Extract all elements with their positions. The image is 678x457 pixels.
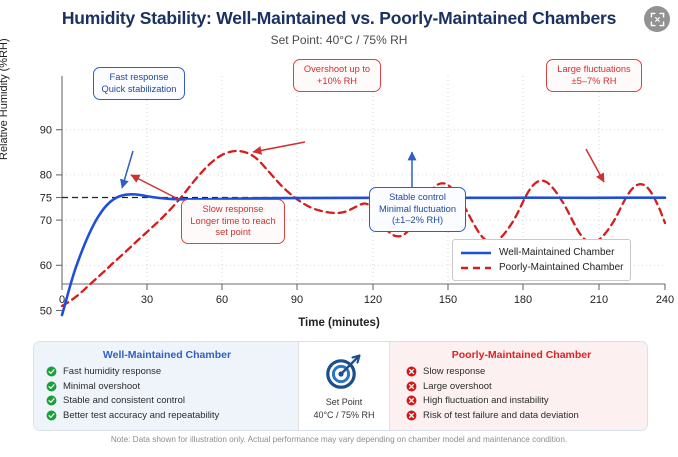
- chart-legend: Well-Maintained Chamber Poorly-Maintaine…: [452, 239, 631, 281]
- annotation-line: +10% RH: [301, 76, 373, 88]
- chart-area: Relative Humidity (%RH) Time (minutes): [0, 52, 678, 334]
- x-axis-tick-labels: 0 30 60 90 120 150 180 210 240: [59, 294, 674, 306]
- annotation-fast-response: Fast response Quick stabilization: [93, 67, 185, 100]
- panel-well-maintained: Well-Maintained Chamber Fast humidity re…: [34, 342, 298, 430]
- svg-text:80: 80: [40, 170, 52, 182]
- svg-text:60: 60: [216, 294, 228, 306]
- x-circle-icon: [406, 410, 417, 421]
- annotation-overshoot: Overshoot up to +10% RH: [293, 59, 381, 92]
- annotation-stable-control: Stable control Minimal fluctuation (±1–2…: [369, 187, 466, 232]
- page-subtitle: Set Point: 40°C / 75% RH: [0, 33, 678, 47]
- x-axis-ticks: [62, 284, 665, 290]
- target-dart-icon: [322, 351, 366, 393]
- panel-setpoint: Set Point 40°C / 75% RH: [298, 342, 390, 430]
- list-item: Large overshoot: [406, 381, 637, 392]
- svg-text:50: 50: [40, 305, 52, 317]
- chart-page: Humidity Stability: Well-Maintained vs. …: [0, 0, 678, 457]
- list-item: Stable and consistent control: [46, 395, 288, 406]
- panel-poorly-maintained: Poorly-Maintained Chamber Slow response …: [390, 342, 647, 430]
- footer-note: Note: Data shown for illustration only. …: [0, 435, 678, 444]
- list-item-label: Slow response: [423, 366, 485, 377]
- check-circle-icon: [46, 366, 57, 377]
- svg-text:60: 60: [40, 260, 52, 272]
- list-item: Fast humidity response: [46, 366, 288, 377]
- list-item-label: Risk of test failure and data deviation: [423, 410, 579, 421]
- legend-item-poorly-maintained: Poorly-Maintained Chamber: [460, 260, 623, 275]
- svg-text:180: 180: [514, 294, 532, 306]
- annotation-large-fluctuations: Large fluctuations ±5–7% RH: [546, 59, 642, 92]
- svg-text:90: 90: [40, 125, 52, 137]
- svg-text:240: 240: [656, 294, 674, 306]
- svg-text:90: 90: [291, 294, 303, 306]
- annotation-line: Large fluctuations: [554, 64, 634, 76]
- check-circle-icon: [46, 410, 57, 421]
- annotation-line: Minimal fluctuation: [377, 204, 458, 216]
- legend-key-dashed-line: [460, 263, 492, 273]
- setpoint-caption-line1: Set Point: [313, 396, 374, 408]
- y-axis-ticks: [56, 130, 62, 266]
- x-circle-icon: [406, 381, 417, 392]
- list-item-label: Better test accuracy and repeatability: [63, 410, 219, 421]
- list-item: High fluctuation and instability: [406, 395, 637, 406]
- expand-fullscreen-icon[interactable]: [644, 6, 670, 32]
- list-item: Slow response: [406, 366, 637, 377]
- list-item-label: Large overshoot: [423, 381, 492, 392]
- x-circle-icon: [406, 366, 417, 377]
- annotation-line: Quick stabilization: [101, 84, 177, 96]
- annotation-line: Longer time to reach: [189, 216, 277, 228]
- panel-heading: Well-Maintained Chamber: [46, 349, 288, 361]
- legend-item-well-maintained: Well-Maintained Chamber: [460, 245, 623, 260]
- list-item-label: Stable and consistent control: [63, 395, 185, 406]
- y-axis-label: Relative Humidity (%RH): [0, 38, 10, 160]
- setpoint-caption-line2: 40°C / 75% RH: [313, 409, 374, 421]
- annotation-line: Overshoot up to: [301, 64, 373, 76]
- x-circle-icon: [406, 395, 417, 406]
- svg-text:150: 150: [439, 294, 457, 306]
- annotation-line: Slow response: [189, 204, 277, 216]
- annotation-line: set point: [189, 227, 277, 239]
- annotation-line: (±1–2% RH): [377, 215, 458, 227]
- annotation-line: Stable control: [377, 192, 458, 204]
- x-axis-label: Time (minutes): [0, 317, 678, 329]
- svg-text:120: 120: [364, 294, 382, 306]
- list-item-label: High fluctuation and instability: [423, 395, 549, 406]
- list-item: Better test accuracy and repeatability: [46, 410, 288, 421]
- series-poorly-maintained-line: [62, 151, 665, 306]
- check-circle-icon: [46, 381, 57, 392]
- svg-text:210: 210: [590, 294, 608, 306]
- legend-key-solid-line: [460, 248, 492, 258]
- annotation-slow-response: Slow response Longer time to reach set p…: [181, 199, 285, 244]
- page-title: Humidity Stability: Well-Maintained vs. …: [0, 8, 678, 29]
- panel-heading: Poorly-Maintained Chamber: [406, 349, 637, 361]
- check-circle-icon: [46, 395, 57, 406]
- legend-label: Well-Maintained Chamber: [499, 247, 614, 258]
- y-axis-tick-labels: 90 80 75 70 60 50: [40, 125, 52, 318]
- annotation-arrows: [122, 142, 604, 200]
- comparison-panels: Well-Maintained Chamber Fast humidity re…: [33, 341, 648, 431]
- list-item: Risk of test failure and data deviation: [406, 410, 637, 421]
- legend-label: Poorly-Maintained Chamber: [499, 262, 624, 273]
- list-item-label: Minimal overshoot: [63, 381, 140, 392]
- annotation-line: ±5–7% RH: [554, 76, 634, 88]
- svg-text:75: 75: [40, 192, 52, 204]
- svg-text:70: 70: [40, 215, 52, 227]
- list-item: Minimal overshoot: [46, 381, 288, 392]
- svg-text:30: 30: [141, 294, 153, 306]
- list-item-label: Fast humidity response: [63, 366, 161, 377]
- annotation-line: Fast response: [101, 72, 177, 84]
- setpoint-caption: Set Point 40°C / 75% RH: [313, 396, 374, 420]
